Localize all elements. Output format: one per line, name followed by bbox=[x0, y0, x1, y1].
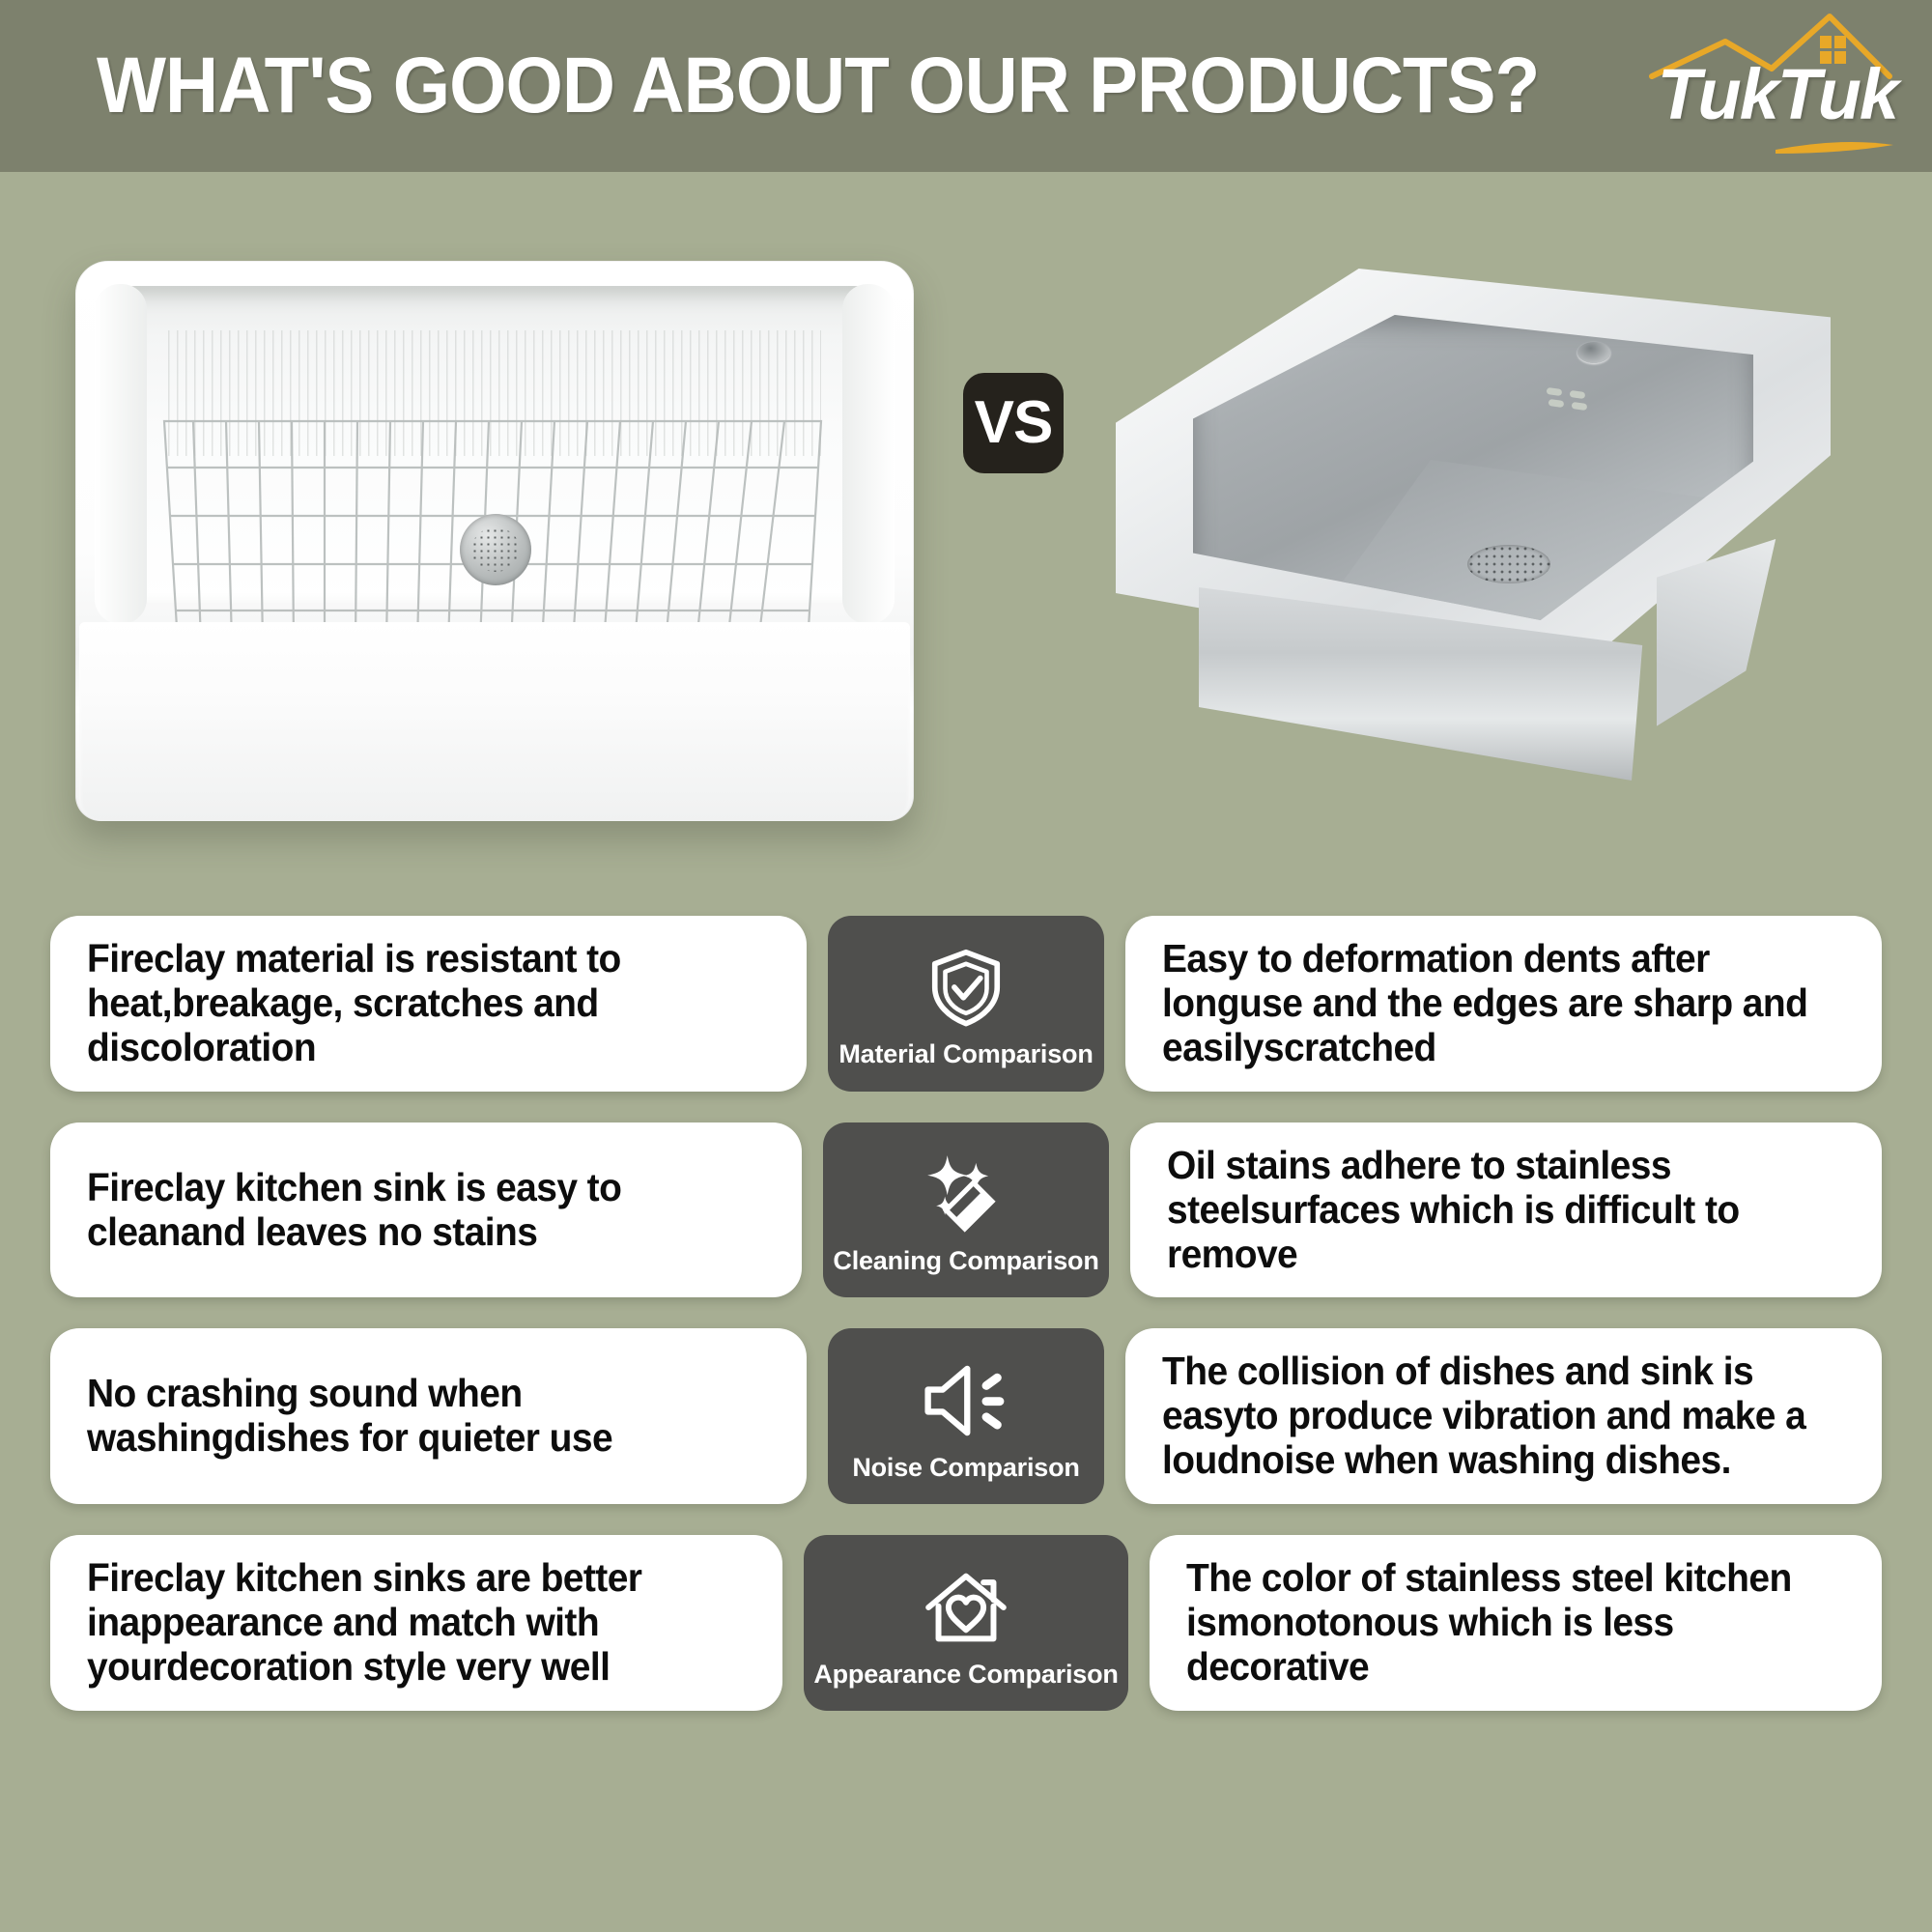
category-label-noise: Noise Comparison bbox=[852, 1453, 1079, 1483]
fireclay-front-apron bbox=[79, 622, 910, 821]
pro-text-noise: No crashing sound when washingdishes for… bbox=[87, 1372, 736, 1461]
pro-text-appearance: Fireclay kitchen sinks are better inappe… bbox=[87, 1556, 713, 1690]
fireclay-drain bbox=[460, 514, 531, 585]
pro-card-material: Fireclay material is resistant to heat,b… bbox=[50, 916, 807, 1092]
pro-card-appearance: Fireclay kitchen sinks are better inappe… bbox=[50, 1535, 782, 1711]
category-card-material[interactable]: Material Comparison bbox=[828, 916, 1104, 1092]
fireclay-rim-right bbox=[842, 284, 895, 624]
con-card-noise: The collision of dishes and sink is easy… bbox=[1125, 1328, 1882, 1504]
category-card-noise[interactable]: Noise Comparison bbox=[828, 1328, 1104, 1504]
sparkle-eraser-icon bbox=[923, 1148, 1009, 1240]
con-card-material: Easy to deformation dents after longuse … bbox=[1125, 916, 1882, 1092]
comparison-grid: Fireclay material is resistant to heat,b… bbox=[0, 916, 1932, 1711]
category-label-material: Material Comparison bbox=[838, 1039, 1093, 1069]
shield-check-icon bbox=[924, 941, 1008, 1034]
speaker-sound-icon bbox=[921, 1354, 1011, 1447]
con-text-cleaning: Oil stains adhere to stainless steelsurf… bbox=[1167, 1144, 1811, 1277]
vs-label: VS bbox=[975, 393, 1053, 453]
pro-card-cleaning: Fireclay kitchen sink is easy to cleanan… bbox=[50, 1122, 802, 1298]
con-text-noise: The collision of dishes and sink is easy… bbox=[1162, 1350, 1811, 1483]
con-text-material: Easy to deformation dents after longuse … bbox=[1162, 937, 1811, 1070]
pro-card-noise: No crashing sound when washingdishes for… bbox=[50, 1328, 807, 1504]
category-card-appearance[interactable]: Appearance Comparison bbox=[804, 1535, 1127, 1711]
stainless-steel-sink-image bbox=[1116, 269, 1831, 810]
logo-swoosh-icon bbox=[1776, 142, 1893, 154]
steel-sink-side-panel bbox=[1657, 539, 1869, 752]
hero-product-comparison: VS bbox=[0, 172, 1932, 916]
comparison-row: No crashing sound when washingdishes for… bbox=[50, 1328, 1882, 1504]
fireclay-sink-image bbox=[75, 261, 914, 821]
comparison-row: Fireclay kitchen sinks are better inappe… bbox=[50, 1535, 1882, 1711]
vs-badge: VS bbox=[963, 373, 1064, 473]
brand-wordmark: TukTuk bbox=[1658, 59, 1932, 130]
comparison-row: Fireclay kitchen sink is easy to cleanan… bbox=[50, 1122, 1882, 1298]
page-title: WHAT'S GOOD ABOUT OUR PRODUCTS? bbox=[97, 46, 1539, 126]
con-text-appearance: The color of stainless steel kitchen ism… bbox=[1186, 1556, 1812, 1690]
steel-sink-drain bbox=[1467, 545, 1550, 583]
fireclay-rim-left bbox=[95, 284, 147, 624]
category-label-cleaning: Cleaning Comparison bbox=[833, 1246, 1098, 1276]
pro-text-material: Fireclay material is resistant to heat,b… bbox=[87, 937, 736, 1070]
category-label-appearance: Appearance Comparison bbox=[813, 1660, 1118, 1690]
category-card-cleaning[interactable]: Cleaning Comparison bbox=[823, 1122, 1108, 1298]
steel-sink-faucet-hole bbox=[1577, 342, 1610, 363]
brand-logo: TukTuk bbox=[1648, 9, 1932, 163]
con-card-appearance: The color of stainless steel kitchen ism… bbox=[1150, 1535, 1882, 1711]
header-bar: WHAT'S GOOD ABOUT OUR PRODUCTS? TukTuk bbox=[0, 0, 1932, 172]
steel-sink-overflow-holes bbox=[1545, 383, 1599, 415]
pro-text-cleaning: Fireclay kitchen sink is easy to cleanan… bbox=[87, 1166, 731, 1255]
house-heart-icon bbox=[923, 1561, 1009, 1654]
con-card-cleaning: Oil stains adhere to stainless steelsurf… bbox=[1130, 1122, 1882, 1298]
comparison-row: Fireclay material is resistant to heat,b… bbox=[50, 916, 1882, 1092]
